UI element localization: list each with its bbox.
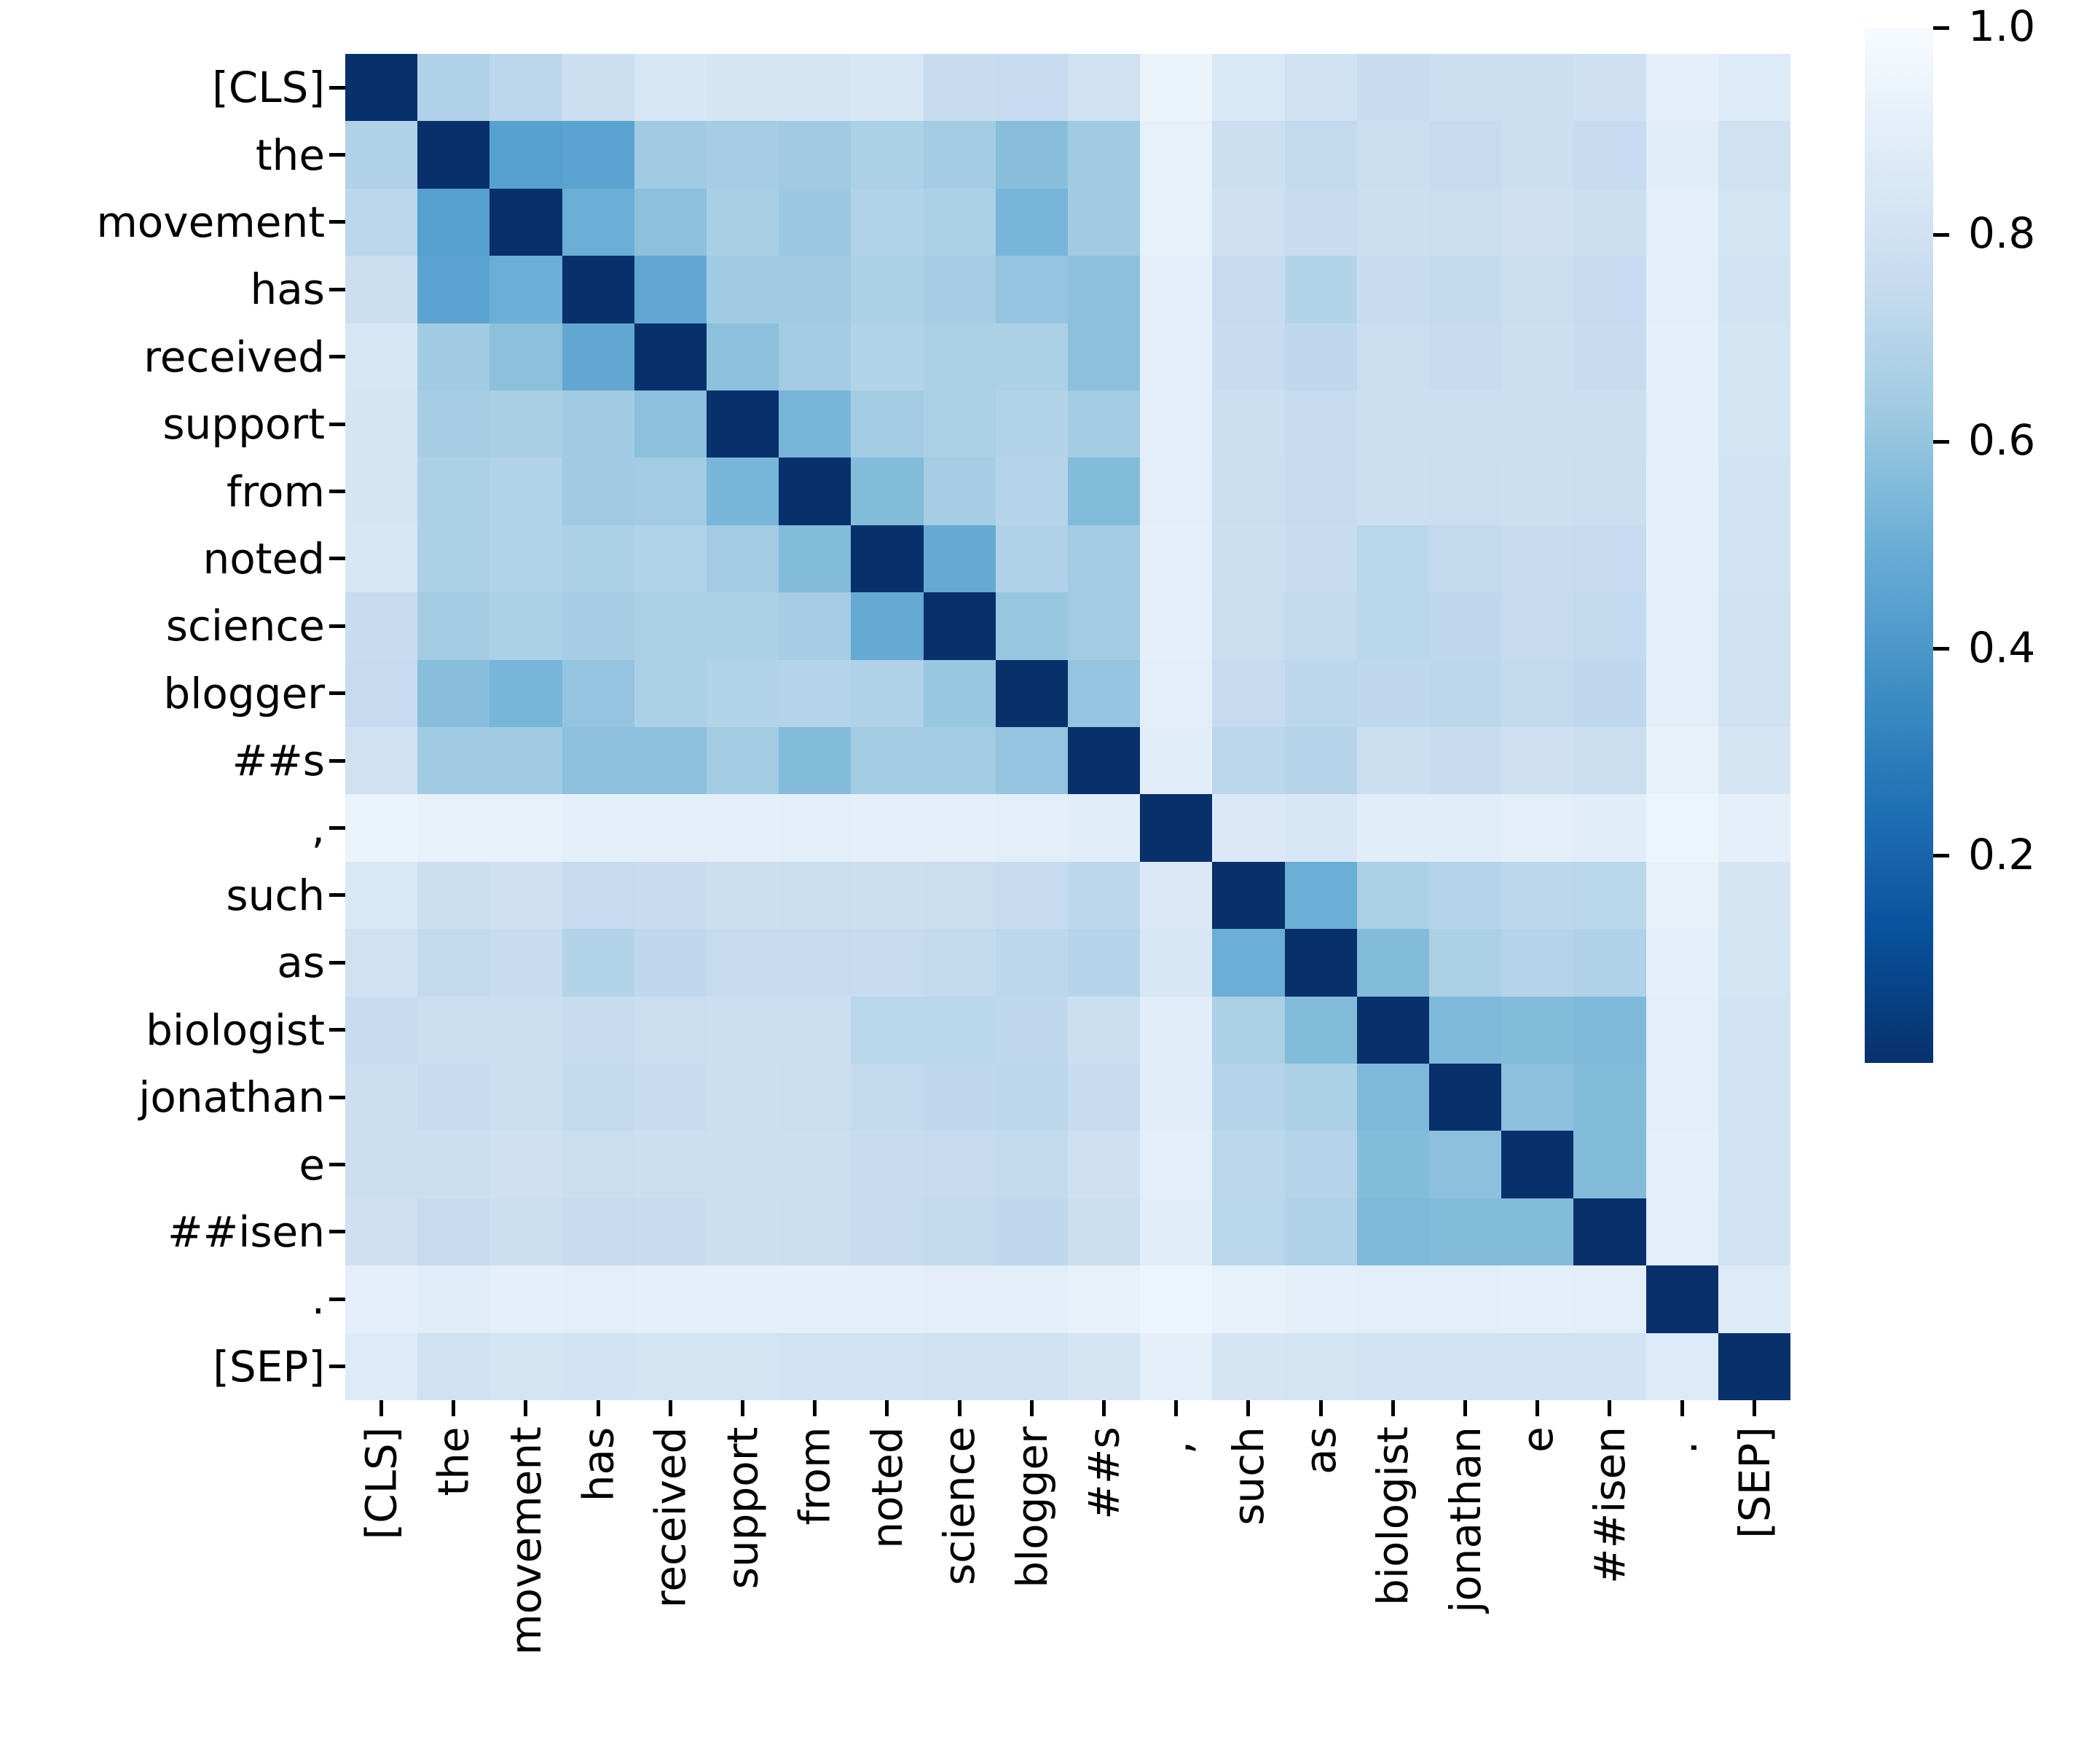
heatmap-cell [996, 458, 1068, 525]
heatmap-cell [1140, 54, 1212, 121]
heatmap-cell [1285, 189, 1357, 256]
heatmap-cell [1212, 727, 1284, 794]
x-axis-tick-mark [452, 1400, 455, 1416]
heatmap-cell [1140, 1064, 1212, 1131]
x-axis-label-wrap: biologist [1357, 1416, 1429, 1747]
x-axis-tick-mark [885, 1400, 889, 1416]
heatmap-cell [345, 660, 417, 727]
heatmap-cell [1285, 862, 1357, 929]
heatmap-cell [851, 1265, 923, 1332]
heatmap-cell [996, 794, 1068, 861]
heatmap-cell [562, 390, 634, 458]
heatmap-cell [634, 390, 707, 458]
heatmap-cell [634, 794, 707, 861]
heatmap-cell [1212, 390, 1284, 458]
heatmap-cell [634, 458, 707, 525]
heatmap-cell [1718, 525, 1790, 592]
x-axis-tick-mark [524, 1400, 527, 1416]
heatmap-cell [1357, 660, 1429, 727]
x-axis-label-wrap: has [562, 1416, 634, 1747]
heatmap-cell [1357, 189, 1429, 256]
x-axis-label-wrap: as [1285, 1416, 1357, 1747]
x-axis-tick-16: e [1501, 1400, 1573, 1747]
x-axis-label: noted [866, 1426, 908, 1549]
heatmap-cell [489, 794, 562, 861]
y-axis-tick-5: support [0, 390, 345, 458]
heatmap-cell [707, 727, 779, 794]
y-axis-label: movement [96, 201, 329, 243]
heatmap-cell [996, 592, 1068, 659]
heatmap-cell [1212, 1198, 1284, 1265]
heatmap-cell [1357, 390, 1429, 458]
heatmap-cell [1718, 390, 1790, 458]
x-axis-label: such [1227, 1426, 1270, 1526]
heatmap-cell [345, 54, 417, 121]
heatmap-cell [417, 525, 489, 592]
x-axis-tick-14: biologist [1357, 1400, 1429, 1747]
heatmap-cell [489, 592, 562, 659]
heatmap-cell [1718, 794, 1790, 861]
heatmap-plot-area [345, 54, 1790, 1400]
heatmap-cell [924, 997, 996, 1064]
heatmap-cell [1285, 54, 1357, 121]
x-axis-tick-19: [SEP] [1718, 1400, 1790, 1747]
y-axis-tick-1: the [0, 121, 345, 188]
y-axis-tick-mark [329, 1096, 345, 1099]
heatmap-cell [1573, 54, 1645, 121]
x-axis-tick-mark [1319, 1400, 1323, 1416]
heatmap-cell [634, 189, 707, 256]
y-axis-label: has [250, 268, 329, 310]
heatmap-cell [1357, 727, 1429, 794]
heatmap-cell [1646, 862, 1718, 929]
heatmap-cell [851, 525, 923, 592]
heatmap-cell [1429, 189, 1501, 256]
heatmap-cell [1357, 1265, 1429, 1332]
heatmap-cell [779, 794, 851, 861]
heatmap-cell [345, 1333, 417, 1400]
heatmap-cell [634, 1333, 707, 1400]
heatmap-cell [1718, 458, 1790, 525]
x-axis-tick-8: science [924, 1400, 996, 1747]
x-axis-tick-mark [1030, 1400, 1034, 1416]
heatmap-cell [1646, 189, 1718, 256]
heatmap-figure: [CLS]themovementhasreceivedsupportfromno… [0, 0, 2100, 1747]
heatmap-cell [1646, 1333, 1718, 1400]
heatmap-cell [634, 592, 707, 659]
heatmap-cell [562, 54, 634, 121]
x-axis-tick-mark [813, 1400, 817, 1416]
y-axis-tick-mark [329, 1028, 345, 1032]
heatmap-cell [1357, 929, 1429, 996]
heatmap-cell [1429, 1198, 1501, 1265]
heatmap-cell [924, 1064, 996, 1131]
heatmap-cell [707, 390, 779, 458]
heatmap-cell [1718, 727, 1790, 794]
heatmap-cell [562, 727, 634, 794]
heatmap-cell [1140, 256, 1212, 323]
heatmap-cell [1068, 121, 1140, 188]
heatmap-cell [345, 592, 417, 659]
heatmap-cell [1212, 323, 1284, 390]
heatmap-cell [1646, 121, 1718, 188]
heatmap-cell [1573, 862, 1645, 929]
heatmap-cell [345, 1064, 417, 1131]
heatmap-cell [562, 1064, 634, 1131]
heatmap-cell [924, 256, 996, 323]
heatmap-cell [1718, 660, 1790, 727]
heatmap-cell [996, 1131, 1068, 1198]
heatmap-cell [489, 54, 562, 121]
heatmap-cell [1140, 525, 1212, 592]
y-axis-tick-mark [329, 691, 345, 695]
heatmap-cell [634, 525, 707, 592]
heatmap-cell [851, 54, 923, 121]
heatmap-cell [1285, 390, 1357, 458]
x-axis-label-wrap: [CLS] [345, 1416, 417, 1747]
heatmap-cell [1212, 256, 1284, 323]
heatmap-cell [1140, 727, 1212, 794]
heatmap-cell [779, 1131, 851, 1198]
y-axis-tick-17: ##isen [0, 1198, 345, 1265]
heatmap-cell [1718, 929, 1790, 996]
heatmap-cell [779, 1198, 851, 1265]
heatmap-cell [1646, 1265, 1718, 1332]
y-axis-tick-mark [329, 1163, 345, 1166]
y-axis-label: e [299, 1144, 329, 1186]
heatmap-cell [1068, 323, 1140, 390]
heatmap-cell [634, 121, 707, 188]
x-axis-label-wrap: e [1501, 1416, 1573, 1747]
heatmap-cell [924, 794, 996, 861]
heatmap-cell [634, 1131, 707, 1198]
heatmap-cell [924, 862, 996, 929]
x-axis-label-wrap: the [417, 1416, 489, 1747]
heatmap-cell [417, 1265, 489, 1332]
heatmap-cell [1501, 592, 1573, 659]
heatmap-cell [1140, 1131, 1212, 1198]
heatmap-cell [417, 1198, 489, 1265]
x-axis-label-wrap: noted [851, 1416, 923, 1747]
y-axis-tick-mark [329, 1365, 345, 1368]
y-axis-tick-9: blogger [0, 660, 345, 727]
heatmap-cell [1068, 794, 1140, 861]
heatmap-cell [1285, 121, 1357, 188]
x-axis: [CLS]themovementhasreceivedsupportfromno… [345, 1400, 1790, 1747]
heatmap-cell [489, 1265, 562, 1332]
heatmap-cell [996, 256, 1068, 323]
heatmap-cell [1357, 323, 1429, 390]
heatmap-cell [1501, 727, 1573, 794]
heatmap-cell [417, 54, 489, 121]
heatmap-cell [1718, 323, 1790, 390]
heatmap-cell [1285, 929, 1357, 996]
y-axis-label: jonathan [138, 1076, 329, 1118]
y-axis-tick-mark [329, 220, 345, 224]
heatmap-cell [924, 1333, 996, 1400]
heatmap-cell [1718, 1064, 1790, 1131]
y-axis-tick-mark [329, 153, 345, 157]
heatmap-cell [707, 592, 779, 659]
x-axis-label-wrap: . [1646, 1416, 1718, 1747]
heatmap-cell [1212, 929, 1284, 996]
heatmap-cell [1718, 1131, 1790, 1198]
colorbar-tick-mark [1933, 233, 1949, 237]
y-axis-tick-mark [329, 893, 345, 897]
heatmap-cell [489, 1131, 562, 1198]
heatmap-cell [851, 1198, 923, 1265]
heatmap-cell [1429, 862, 1501, 929]
heatmap-cell [851, 256, 923, 323]
heatmap-cell [996, 189, 1068, 256]
heatmap-cell [1646, 525, 1718, 592]
heatmap-cell [1501, 862, 1573, 929]
heatmap-cell [1285, 458, 1357, 525]
heatmap-cell [417, 929, 489, 996]
heatmap-cell [1357, 1333, 1429, 1400]
heatmap-cell [1646, 727, 1718, 794]
heatmap-cell [996, 525, 1068, 592]
heatmap-cell [1285, 1198, 1357, 1265]
y-axis-label: received [143, 336, 329, 378]
heatmap-cell [562, 189, 634, 256]
heatmap-cell [1429, 256, 1501, 323]
heatmap-cell [996, 1198, 1068, 1265]
heatmap-cell [1429, 458, 1501, 525]
heatmap-cell [1068, 660, 1140, 727]
heatmap-cell [851, 862, 923, 929]
heatmap-cell [634, 1064, 707, 1131]
heatmap-cell [417, 1131, 489, 1198]
heatmap-cell [634, 1265, 707, 1332]
x-axis-label: from [794, 1426, 836, 1525]
x-axis-tick-5: support [707, 1400, 779, 1747]
x-axis-label: jonathan [1444, 1426, 1487, 1613]
heatmap-cell [345, 997, 417, 1064]
x-axis-label: e [1517, 1426, 1559, 1453]
y-axis-tick-18: . [0, 1265, 345, 1332]
y-axis-tick-mark [329, 288, 345, 291]
y-axis-label: , [312, 807, 329, 849]
heatmap-cell [417, 727, 489, 794]
x-axis-label: . [1661, 1441, 1703, 1454]
heatmap-cell [562, 862, 634, 929]
heatmap-cell [851, 1064, 923, 1131]
heatmap-cell [1718, 256, 1790, 323]
heatmap-cell [1573, 390, 1645, 458]
y-axis-tick-0: [CLS] [0, 54, 345, 121]
heatmap-cell [1501, 1333, 1573, 1400]
y-axis-tick-6: from [0, 458, 345, 525]
heatmap-cell [634, 256, 707, 323]
heatmap-cell [851, 189, 923, 256]
heatmap-cell [345, 121, 417, 188]
heatmap-cell [1285, 1064, 1357, 1131]
heatmap-cell [489, 458, 562, 525]
x-axis-label-wrap: blogger [996, 1416, 1068, 1747]
heatmap-cell [924, 727, 996, 794]
heatmap-cell [779, 121, 851, 188]
heatmap-cell [1212, 862, 1284, 929]
heatmap-cell [489, 727, 562, 794]
heatmap-cell [345, 189, 417, 256]
heatmap-cell [1573, 121, 1645, 188]
y-axis-tick-mark [329, 1230, 345, 1233]
heatmap-cell [1429, 592, 1501, 659]
heatmap-cell [1212, 121, 1284, 188]
heatmap-cell [851, 794, 923, 861]
heatmap-cell [1429, 794, 1501, 861]
heatmap-cell [1140, 660, 1212, 727]
heatmap-cell [779, 54, 851, 121]
heatmap-cell [1573, 1064, 1645, 1131]
heatmap-cell [345, 390, 417, 458]
x-axis-label-wrap: movement [489, 1416, 562, 1747]
heatmap-cell [345, 1131, 417, 1198]
x-axis-label: ##s [1083, 1426, 1125, 1519]
y-axis-label: noted [203, 538, 330, 580]
heatmap-cell [1068, 1333, 1140, 1400]
heatmap-cell [1140, 458, 1212, 525]
heatmap-cell [924, 323, 996, 390]
heatmap-cell [707, 660, 779, 727]
heatmap-cell [996, 660, 1068, 727]
heatmap-cell [489, 660, 562, 727]
heatmap-cell [707, 1333, 779, 1400]
heatmap-cell [562, 323, 634, 390]
colorbar-tick-label: 1.0 [1968, 5, 2035, 47]
heatmap-cell [345, 929, 417, 996]
heatmap-cell [562, 592, 634, 659]
y-axis-tick-mark [329, 961, 345, 965]
heatmap-cell [1212, 1131, 1284, 1198]
heatmap-cell [1357, 1064, 1429, 1131]
heatmap-cell [1357, 1198, 1429, 1265]
heatmap-cell [489, 1064, 562, 1131]
heatmap-cell [779, 592, 851, 659]
colorbar-gradient [1865, 28, 1933, 1063]
heatmap-cell [417, 189, 489, 256]
y-axis-label: biologist [146, 1009, 329, 1051]
heatmap-cell [417, 458, 489, 525]
y-axis-tick-3: has [0, 256, 345, 323]
heatmap-cell [489, 1333, 562, 1400]
heatmap-cell [1573, 1131, 1645, 1198]
heatmap-cell [1068, 390, 1140, 458]
heatmap-cell [1429, 929, 1501, 996]
heatmap-cell [417, 323, 489, 390]
heatmap-cell [851, 660, 923, 727]
heatmap-cell [1212, 1265, 1284, 1332]
heatmap-cell [1501, 1198, 1573, 1265]
heatmap-cell [707, 794, 779, 861]
heatmap-cell [851, 727, 923, 794]
x-axis-label: ##isen [1589, 1426, 1631, 1584]
x-axis-tick-mark [958, 1400, 961, 1416]
heatmap-cell [851, 458, 923, 525]
heatmap-cell [1646, 997, 1718, 1064]
y-axis-tick-4: received [0, 323, 345, 390]
heatmap-cell [1573, 794, 1645, 861]
y-axis-label: such [226, 874, 329, 916]
heatmap-cell [562, 121, 634, 188]
x-axis-tick-mark [1753, 1400, 1756, 1416]
y-axis-label: ##s [232, 739, 329, 782]
heatmap-cell [1068, 1198, 1140, 1265]
heatmap-cell [1285, 525, 1357, 592]
heatmap-cell [1068, 1131, 1140, 1198]
x-axis-label-wrap: , [1140, 1416, 1212, 1747]
heatmap-cell [779, 727, 851, 794]
heatmap-cell [1646, 323, 1718, 390]
heatmap-cell [1718, 1333, 1790, 1400]
heatmap-cell [1212, 525, 1284, 592]
heatmap-cell [1501, 1131, 1573, 1198]
colorbar-tick-mark [1933, 647, 1949, 651]
y-axis-label: ##isen [168, 1211, 329, 1253]
y-axis-tick-19: [SEP] [0, 1333, 345, 1400]
x-axis-label-wrap: received [634, 1416, 707, 1747]
colorbar-tick-label: 0.2 [1968, 833, 2035, 876]
heatmap-cell [707, 1198, 779, 1265]
heatmap-cell [1573, 1333, 1645, 1400]
heatmap-cell [1573, 660, 1645, 727]
heatmap-cell [707, 256, 779, 323]
heatmap-cell [1573, 323, 1645, 390]
x-axis-tick-mark [597, 1400, 600, 1416]
heatmap-cell [417, 794, 489, 861]
heatmap-cell [996, 390, 1068, 458]
x-axis-label: the [433, 1426, 475, 1496]
heatmap-cell [1429, 1265, 1501, 1332]
heatmap-cell [634, 997, 707, 1064]
heatmap-grid [345, 54, 1790, 1400]
heatmap-cell [562, 1333, 634, 1400]
heatmap-cell [1140, 862, 1212, 929]
heatmap-cell [634, 323, 707, 390]
heatmap-cell [634, 660, 707, 727]
heatmap-cell [1212, 794, 1284, 861]
heatmap-cell [1718, 1198, 1790, 1265]
heatmap-cell [562, 794, 634, 861]
x-axis-tick-3: has [562, 1400, 634, 1747]
y-axis-tick-8: science [0, 592, 345, 659]
colorbar-tick-mark [1933, 440, 1949, 444]
heatmap-cell [1429, 390, 1501, 458]
heatmap-cell [707, 1064, 779, 1131]
heatmap-cell [924, 525, 996, 592]
heatmap-cell [996, 54, 1068, 121]
x-axis-tick-12: such [1212, 1400, 1284, 1747]
y-axis-tick-mark [329, 86, 345, 90]
heatmap-cell [1573, 525, 1645, 592]
heatmap-cell [1212, 997, 1284, 1064]
colorbar-tick-mark [1933, 854, 1949, 857]
heatmap-cell [345, 525, 417, 592]
x-axis-tick-11: , [1140, 1400, 1212, 1747]
heatmap-cell [996, 1265, 1068, 1332]
heatmap-cell [1501, 458, 1573, 525]
x-axis-label: , [1155, 1441, 1198, 1454]
heatmap-cell [707, 525, 779, 592]
heatmap-cell [1068, 862, 1140, 929]
x-axis-tick-15: jonathan [1429, 1400, 1501, 1747]
heatmap-cell [924, 592, 996, 659]
heatmap-cell [924, 1131, 996, 1198]
x-axis-tick-10: ##s [1068, 1400, 1140, 1747]
x-axis-tick-mark [380, 1400, 383, 1416]
y-axis-tick-14: biologist [0, 997, 345, 1064]
